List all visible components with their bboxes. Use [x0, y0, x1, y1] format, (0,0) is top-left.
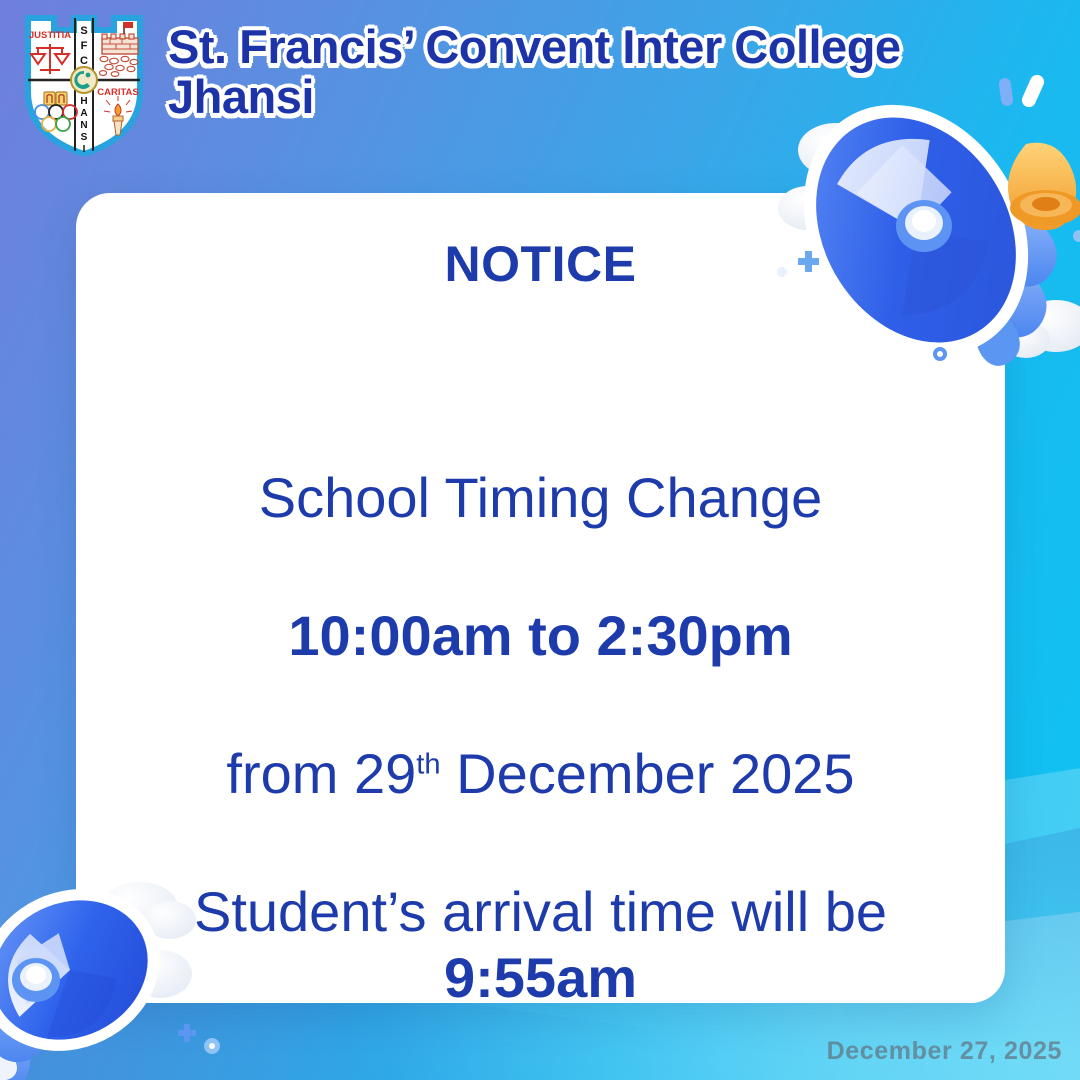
svg-text:A: A	[80, 108, 87, 119]
notice-body: School Timing Change 10:00am to 2:30pm f…	[134, 385, 947, 1011]
arrival-time-value: 9:55am	[444, 946, 637, 1009]
notice-card: NOTICE School Timing Change 10:00am to 2…	[76, 193, 1005, 1003]
svg-text:I: I	[83, 144, 86, 155]
school-crest-logo: JUSTITIA S F C	[14, 8, 154, 156]
school-name-line-2: Jhansi	[168, 70, 314, 123]
date-stamp: December 27, 2025	[827, 1037, 1062, 1066]
effective-date-ordinal: th	[416, 749, 440, 781]
arrival-prefix: Student’s arrival time will be	[194, 880, 887, 943]
school-name: St. Francis’ Convent Inter College Jhans…	[168, 8, 901, 122]
svg-text:C: C	[80, 55, 88, 67]
svg-text:JUSTITIA: JUSTITIA	[29, 30, 71, 41]
notice-heading: NOTICE	[445, 235, 637, 293]
svg-text:S: S	[80, 25, 87, 37]
svg-text:H: H	[80, 96, 87, 107]
effective-date-prefix: from 29	[226, 742, 416, 805]
svg-text:N: N	[80, 120, 87, 131]
svg-text:S: S	[81, 132, 88, 143]
svg-text:F: F	[81, 40, 88, 52]
notice-effective-date: from 29th December 2025	[134, 741, 947, 807]
school-name-line-1: St. Francis’ Convent Inter College	[168, 20, 901, 73]
poster-header: JUSTITIA S F C	[14, 8, 1040, 156]
notice-hours: 10:00am to 2:30pm	[134, 603, 947, 669]
effective-date-suffix: December 2025	[441, 742, 855, 805]
notice-subject: School Timing Change	[134, 465, 947, 531]
notice-arrival-time: Student’s arrival time will be 9:55am	[151, 879, 931, 1011]
notice-poster: JUSTITIA S F C	[0, 0, 1080, 1080]
